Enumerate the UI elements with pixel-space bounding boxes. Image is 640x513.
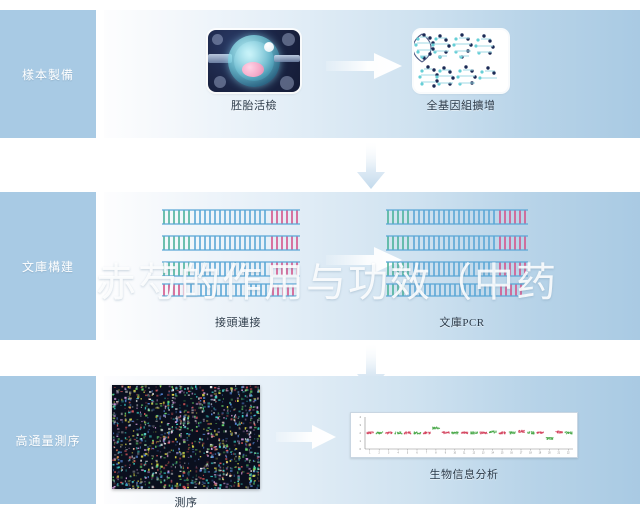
- step-caption: 全基因組擴增: [414, 97, 508, 113]
- step-caption: 測序: [112, 494, 260, 510]
- step-sequencing: 測序: [112, 385, 260, 510]
- cnv-plot-svg: 01234 1234567891011121314151617181920212…: [351, 413, 577, 457]
- stage-label-sequencing: 高通量測序: [0, 376, 96, 504]
- step-adapter-ligation: 接頭連接: [160, 206, 316, 330]
- dna-double-helix-image: [414, 30, 508, 92]
- step-bioinformatics: 01234 1234567891011121314151617181920212…: [350, 412, 578, 482]
- dna-fragments-pcr-image: [384, 206, 540, 302]
- step-embryo-biopsy: 胚胎活檢: [208, 30, 300, 113]
- row3-content: 測序: [104, 376, 640, 504]
- arrow-right-icon: [276, 424, 338, 450]
- step-caption: 接頭連接: [160, 314, 316, 330]
- step-caption: 文庫PCR: [384, 314, 540, 330]
- step-caption: 生物信息分析: [350, 466, 578, 482]
- stage-label-text: 樣本製備: [22, 66, 74, 83]
- workflow-row-sequencing: 高通量測序 測序: [0, 376, 640, 504]
- inner-cell-mass: [242, 62, 264, 77]
- step-library-pcr: 文庫PCR: [384, 206, 540, 330]
- embryo-biopsy-image: [208, 30, 300, 92]
- stage-label-library-construction: 文庫構建: [0, 192, 96, 340]
- stage-label-text: 文庫構建: [22, 258, 74, 275]
- row1-content: 胚胎活檢: [104, 10, 640, 138]
- workflow-row-sample-prep: 樣本製備 胚胎活檢: [0, 10, 640, 138]
- row2-content: 接頭連接: [104, 192, 640, 340]
- step-wga: 全基因組擴增: [414, 30, 508, 113]
- polar-body: [264, 42, 274, 52]
- arrow-down-icon: [356, 142, 386, 190]
- stage-label-text: 高通量測序: [15, 432, 80, 449]
- workflow-row-library-construction: 文庫構建: [0, 192, 640, 340]
- arrow-right-icon: [326, 52, 404, 80]
- sequencing-clusters-svg: [112, 385, 260, 489]
- stage-label-sample-prep: 樣本製備: [0, 10, 96, 138]
- sequencing-gel-image: [112, 385, 260, 489]
- biopsy-pipette-icon: [274, 55, 300, 62]
- dna-helix-svg: [414, 30, 508, 92]
- step-caption: 胚胎活檢: [208, 97, 300, 113]
- cnv-plot-image: 01234 1234567891011121314151617181920212…: [350, 412, 578, 458]
- dna-fragments-adapter-image: [160, 206, 316, 302]
- workflow-diagram: 樣本製備 胚胎活檢: [0, 0, 640, 513]
